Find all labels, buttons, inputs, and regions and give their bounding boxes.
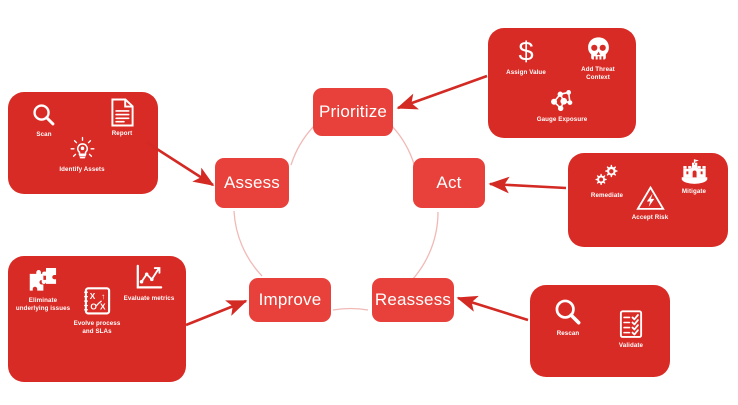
detail-card-act[interactable]: Remediate: [568, 153, 728, 247]
item-label: Assign Value: [506, 69, 546, 77]
svg-text:X: X: [89, 291, 95, 301]
cycle-node-improve[interactable]: Improve: [249, 278, 331, 322]
network-nodes-icon: [547, 86, 577, 113]
item-label: Evolve process and SLAs: [69, 320, 125, 336]
cycle-node-label: Act: [436, 173, 461, 193]
magnifier-icon: [31, 102, 57, 128]
line-chart-icon: [134, 264, 164, 292]
item-scan[interactable]: Scan: [16, 102, 72, 139]
item-label: Accept Risk: [632, 214, 669, 222]
item-label: Validate: [619, 342, 643, 350]
detail-card-improve[interactable]: Eliminate underlying issues X ↑: [8, 256, 186, 382]
item-label: Identify Assets: [59, 166, 104, 174]
gears-icon: [593, 163, 621, 189]
item-report[interactable]: Report: [94, 98, 150, 138]
item-label: Remediate: [591, 192, 623, 200]
warning-triangle-bolt-icon: [636, 185, 665, 211]
svg-text:X: X: [100, 302, 106, 312]
detail-card-prioritize[interactable]: $ Assign Value Add Threa: [488, 28, 636, 138]
lightbulb-icon: [69, 136, 96, 163]
detail-card-assess[interactable]: Scan Report: [8, 92, 158, 194]
item-identify-assets[interactable]: Identify Assets: [46, 136, 118, 174]
item-gauge-exposure[interactable]: Gauge Exposure: [523, 86, 601, 124]
item-label: Gauge Exposure: [537, 116, 588, 124]
item-label: Eliminate underlying issues: [15, 297, 71, 313]
checklist-clipboard-icon: [618, 309, 644, 339]
connector-improve: [186, 301, 246, 325]
diagram-canvas: Prioritize Act Reassess Improve Assess S…: [0, 0, 738, 405]
svg-text:$: $: [518, 36, 533, 66]
item-label: Rescan: [557, 330, 580, 338]
skull-icon: [586, 36, 611, 63]
puzzle-pieces-icon: [28, 266, 58, 294]
item-accept-risk[interactable]: Accept Risk: [620, 185, 680, 222]
cycle-node-label: Prioritize: [319, 102, 387, 122]
castle-fortress-icon: [681, 157, 708, 185]
item-assign-value[interactable]: $ Assign Value: [494, 36, 558, 77]
cycle-node-label: Assess: [224, 173, 280, 193]
cycle-node-reassess[interactable]: Reassess: [372, 278, 454, 322]
cycle-node-act[interactable]: Act: [413, 158, 485, 208]
svg-text:↑: ↑: [100, 291, 104, 301]
item-add-threat-context[interactable]: Add Threat Context: [570, 36, 626, 82]
strategy-board-icon: X ↑ O X: [83, 286, 112, 317]
item-label: Mitigate: [682, 188, 706, 196]
item-rescan[interactable]: Rescan: [540, 297, 596, 338]
connector-reassess: [458, 298, 528, 320]
cycle-node-label: Reassess: [375, 290, 451, 310]
svg-text:O: O: [90, 302, 97, 312]
item-evaluate-metrics[interactable]: Evaluate metrics: [120, 264, 178, 303]
item-label: Add Threat Context: [570, 66, 626, 82]
cycle-node-prioritize[interactable]: Prioritize: [313, 88, 393, 136]
magnifier-icon: [553, 297, 583, 327]
connector-prioritize: [398, 76, 487, 108]
cycle-node-assess[interactable]: Assess: [215, 158, 289, 208]
detail-card-reassess[interactable]: Rescan: [530, 285, 670, 377]
cycle-node-label: Improve: [259, 290, 322, 310]
dollar-sign-icon: $: [515, 36, 537, 66]
document-report-icon: [110, 98, 135, 127]
item-validate[interactable]: Validate: [602, 309, 660, 350]
connector-act: [490, 184, 566, 188]
item-label: Evaluate metrics: [123, 295, 175, 303]
